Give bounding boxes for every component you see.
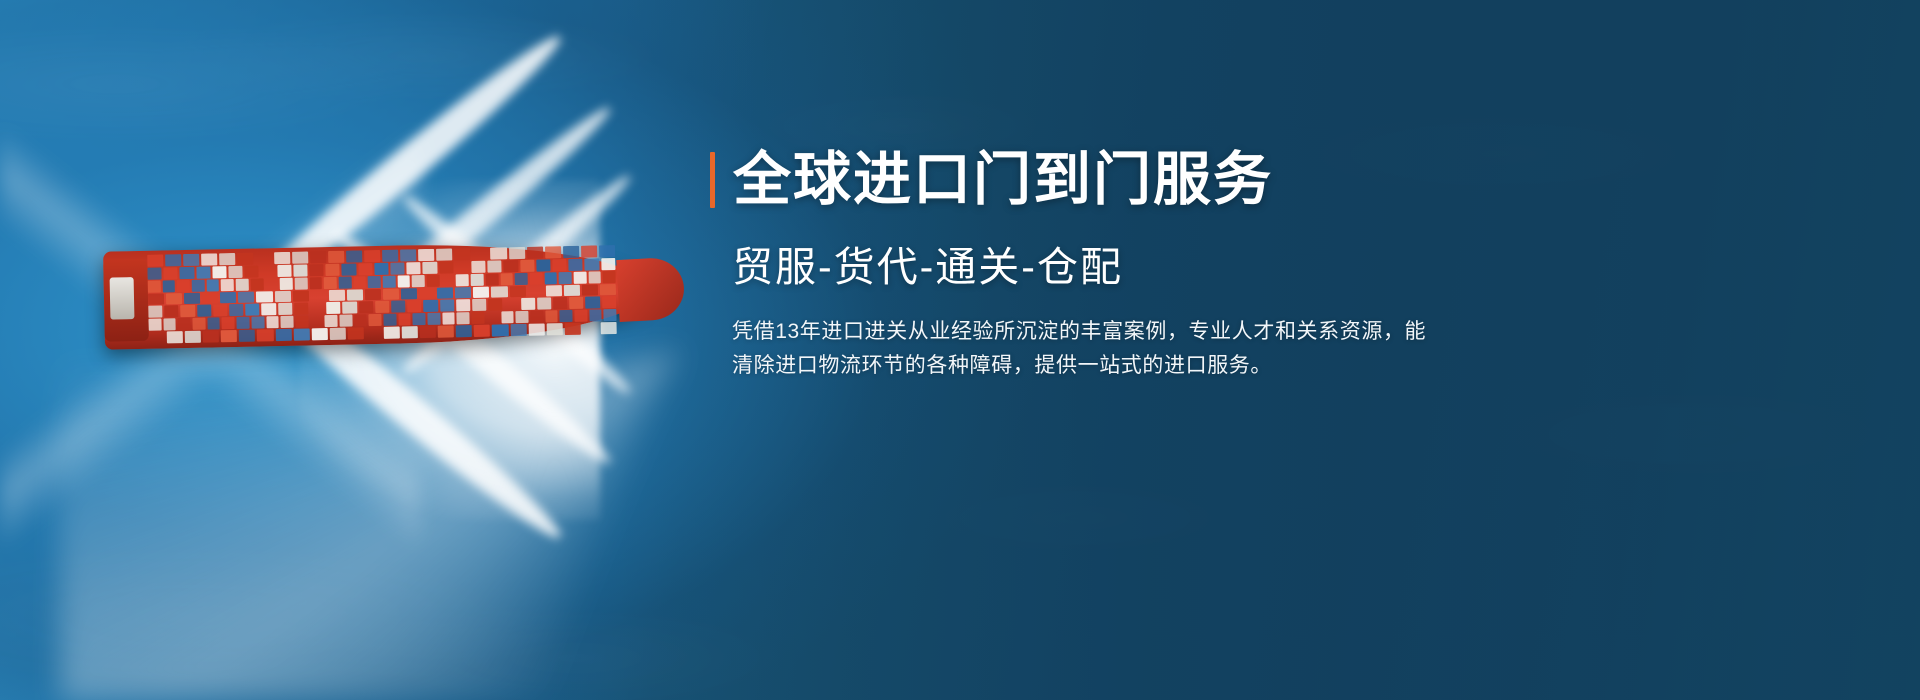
hero-text-block: 全球进口门到门服务 贸服-货代-通关-仓配 凭借13年进口进关从业经验所沉淀的丰… xyxy=(710,150,1470,383)
accent-bar xyxy=(710,152,715,208)
description-text: 凭借13年进口进关从业经验所沉淀的丰富案例，专业人才和关系资源，能清除进口物流环… xyxy=(732,315,1432,383)
subtitle: 贸服-货代-通关-仓配 xyxy=(732,233,1470,293)
hero-banner: 全球进口门到门服务 贸服-货代-通关-仓配 凭借13年进口进关从业经验所沉淀的丰… xyxy=(0,0,1920,700)
page-title: 全球进口门到门服务 xyxy=(733,150,1273,211)
headline-row: 全球进口门到门服务 xyxy=(710,150,1470,211)
